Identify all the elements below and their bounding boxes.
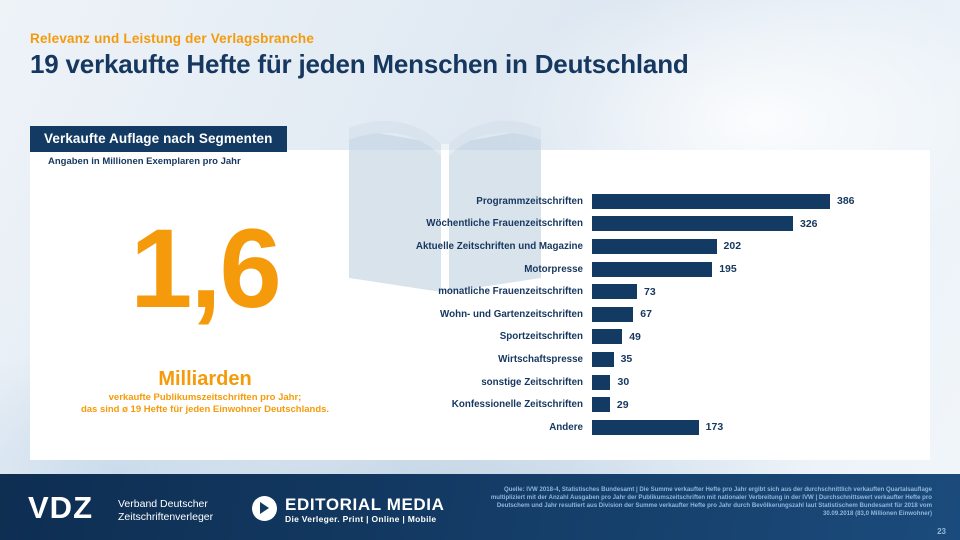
chart-category-label: sonstige Zeitschriften [410, 377, 592, 388]
chart-category-label: Sportzeitschriften [410, 331, 592, 342]
highlight-description: verkaufte Publikumszeitschriften pro Jah… [35, 392, 375, 415]
highlight-description-line2: das sind ø 19 Hefte für jeden Einwohner … [35, 404, 375, 416]
chart-value-label: 49 [629, 331, 641, 343]
chart-row: sonstige Zeitschriften30 [410, 371, 930, 394]
chart-value-label: 386 [837, 195, 855, 207]
kicker-text: Relevanz und Leistung der Verlagsbranche [30, 31, 314, 46]
chart-category-label: Konfessionelle Zeitschriften [410, 399, 592, 410]
panel-banner-title: Verkaufte Auflage nach Segmenten [30, 126, 287, 152]
chart-row: monatliche Frauenzeitschriften73 [410, 280, 930, 303]
chart-bar [592, 239, 717, 254]
chart-value-label: 326 [800, 218, 818, 230]
chart-bar [592, 307, 633, 322]
chart-bar [592, 420, 699, 435]
chart-bar-wrapper: 326 [592, 213, 930, 236]
chart-bar-wrapper: 67 [592, 303, 930, 326]
chart-value-label: 73 [644, 286, 656, 298]
chart-row: Wohn- und Gartenzeitschriften67 [410, 303, 930, 326]
page-number: 23 [937, 527, 946, 536]
chart-value-label: 195 [719, 263, 737, 275]
chart-bar-wrapper: 173 [592, 416, 930, 439]
highlight-number: 1,6 [35, 215, 375, 323]
editorial-media-name: EDITORIAL MEDIA [285, 495, 445, 514]
chart-bar-wrapper: 35 [592, 348, 930, 371]
chart-row: Konfessionelle Zeitschriften29 [410, 393, 930, 416]
chart-row: Programmzeitschriften386 [410, 190, 930, 213]
chart-row: Aktuelle Zeitschriften und Magazine202 [410, 235, 930, 258]
chart-value-label: 67 [640, 308, 652, 320]
chart-value-label: 30 [617, 376, 629, 388]
slide: Relevanz und Leistung der Verlagsbranche… [0, 0, 960, 540]
chart-bar [592, 397, 610, 412]
chart-bar [592, 375, 610, 390]
chart-category-label: Motorpresse [410, 264, 592, 275]
chart-row: Sportzeitschriften49 [410, 326, 930, 349]
vdz-tagline: Verband Deutscher Zeitschriftenverleger [118, 498, 213, 524]
chart-bar [592, 284, 637, 299]
highlight-description-line1: verkaufte Publikumszeitschriften pro Jah… [35, 392, 375, 404]
chart-category-label: Wohn- und Gartenzeitschriften [410, 309, 592, 320]
chart-bar-wrapper: 386 [592, 190, 930, 213]
chart-row: Wirtschaftspresse35 [410, 348, 930, 371]
chart-bar-wrapper: 29 [592, 393, 930, 416]
chart-category-label: Andere [410, 422, 592, 433]
bar-chart: Programmzeitschriften386Wöchentliche Fra… [410, 190, 930, 445]
chart-category-label: Wirtschaftspresse [410, 354, 592, 365]
chart-row: Andere173 [410, 416, 930, 439]
chart-bar-wrapper: 195 [592, 258, 930, 281]
footer-bar: VDZ Verband Deutscher Zeitschriftenverle… [0, 474, 960, 540]
chart-category-label: Aktuelle Zeitschriften und Magazine [410, 241, 592, 252]
chart-bar-wrapper: 30 [592, 371, 930, 394]
chart-value-label: 202 [724, 240, 742, 252]
chart-category-label: Wöchentliche Frauenzeitschriften [410, 218, 592, 229]
chart-bar [592, 216, 793, 231]
editorial-media-subtitle: Die Verleger. Print | Online | Mobile [285, 514, 445, 524]
chart-bar [592, 329, 622, 344]
chart-bar [592, 262, 712, 277]
chart-bar [592, 194, 830, 209]
highlight-unit: Milliarden [35, 368, 375, 391]
vdz-tagline-line1: Verband Deutscher [118, 498, 213, 511]
editorial-media-logo: EDITORIAL MEDIA Die Verleger. Print | On… [252, 495, 445, 524]
chart-row: Motorpresse195 [410, 258, 930, 281]
chart-value-label: 173 [706, 421, 724, 433]
chart-bar-wrapper: 73 [592, 280, 930, 303]
panel-subcaption: Angaben in Millionen Exemplaren pro Jahr [48, 156, 241, 167]
play-circle-icon [252, 496, 277, 521]
chart-row: Wöchentliche Frauenzeitschriften326 [410, 213, 930, 236]
vdz-tagline-line2: Zeitschriftenverleger [118, 511, 213, 524]
page-title: 19 verkaufte Hefte für jeden Menschen in… [30, 49, 689, 80]
chart-bar-wrapper: 202 [592, 235, 930, 258]
chart-category-label: Programmzeitschriften [410, 196, 592, 207]
chart-bar-wrapper: 49 [592, 326, 930, 349]
chart-value-label: 35 [621, 353, 633, 365]
chart-value-label: 29 [617, 399, 629, 411]
chart-bar [592, 352, 614, 367]
vdz-logo: VDZ [28, 490, 93, 526]
chart-category-label: monatliche Frauenzeitschriften [410, 286, 592, 297]
source-note: Quelle: IVW 2018-4, Statistisches Bundes… [482, 486, 932, 518]
